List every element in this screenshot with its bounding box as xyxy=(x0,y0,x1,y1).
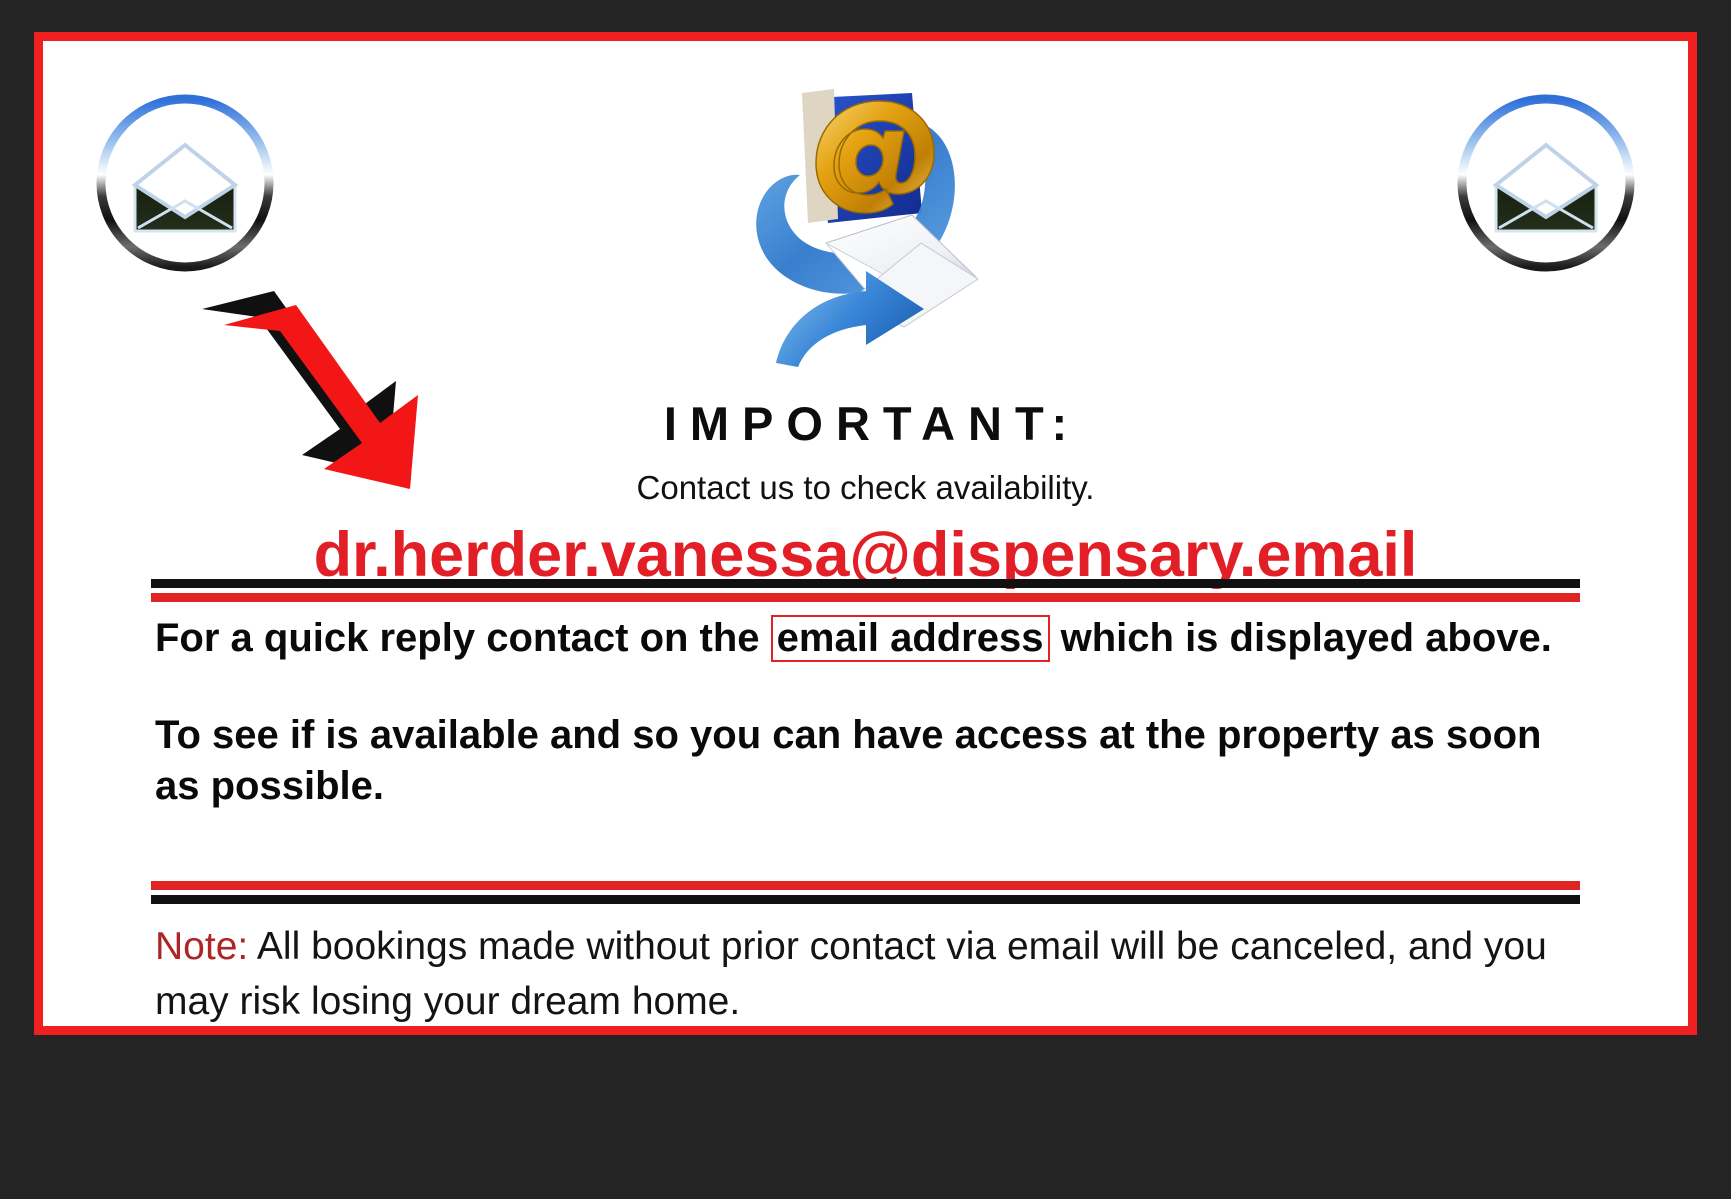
paragraph-two: To see if is available and so you can ha… xyxy=(155,710,1576,812)
at-sign-envelope-icon xyxy=(716,63,1016,383)
note-block: Note: All bookings made without prior co… xyxy=(155,919,1576,1030)
subheadline: Contact us to check availability. xyxy=(43,469,1688,507)
note-label: Note: xyxy=(155,925,248,968)
envelope-circle-icon-left xyxy=(91,89,279,277)
divider-top-black-bar xyxy=(151,579,1580,588)
body-copy: For a quick reply contact on the email a… xyxy=(155,613,1576,813)
paragraph-one-tail: which is displayed above. xyxy=(1050,616,1552,660)
divider-bottom xyxy=(151,881,1580,904)
divider-top-red-bar xyxy=(151,593,1580,602)
paragraph-one-lead: For a quick reply contact on the xyxy=(155,616,771,660)
page-title: IMPORTANT: xyxy=(43,396,1688,451)
divider-top xyxy=(151,579,1580,602)
poster-body: IMPORTANT: Contact us to check availabil… xyxy=(43,41,1688,1026)
divider-bottom-black-bar xyxy=(151,895,1580,904)
highlighted-term-email-address: email address xyxy=(771,615,1050,662)
paragraph-one: For a quick reply contact on the email a… xyxy=(155,613,1576,664)
envelope-circle-icon-right xyxy=(1452,89,1640,277)
divider-bottom-red-bar xyxy=(151,881,1580,890)
note-text: All bookings made without prior contact … xyxy=(155,925,1547,1023)
poster-frame: IMPORTANT: Contact us to check availabil… xyxy=(34,32,1697,1035)
